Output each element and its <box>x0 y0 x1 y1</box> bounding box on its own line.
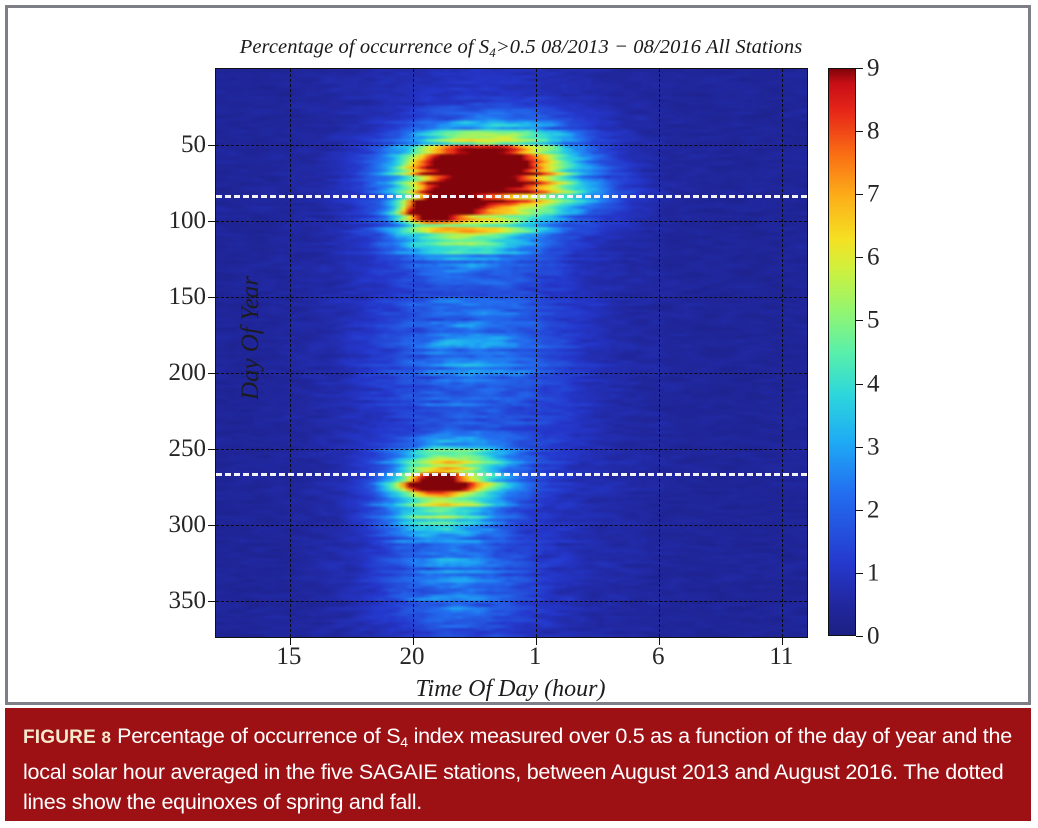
colorbar-tick-label: 7 <box>867 182 880 207</box>
heatmap-axes: Day Of Year <box>215 68 808 638</box>
colorbar-tick-label: 8 <box>867 119 880 144</box>
x-tick-label: 11 <box>769 644 793 669</box>
x-tick-label: 1 <box>529 644 542 669</box>
heatmap-image <box>216 69 807 637</box>
y-tickmark <box>208 297 216 298</box>
y-tick-label: 50 <box>181 132 206 157</box>
colorbar-tick-label: 6 <box>867 245 880 270</box>
y-tick-label: 350 <box>169 588 207 613</box>
colorbar-tickmark <box>856 573 863 574</box>
x-tick-label: 20 <box>400 644 425 669</box>
colorbar-tick-label: 9 <box>867 56 880 81</box>
caption-text-a: Percentage of occurrence of S <box>117 724 400 748</box>
y-tick-label: 300 <box>169 512 207 537</box>
x-axis-title: Time Of Day (hour) <box>215 676 806 703</box>
colorbar-tickmark <box>856 320 863 321</box>
colorbar-tickmark <box>856 384 863 385</box>
colorbar-tickmark <box>856 510 863 511</box>
colorbar-tick-label: 4 <box>867 371 880 396</box>
caption-subscript: 4 <box>400 734 408 750</box>
y-tickmark <box>208 449 216 450</box>
colorbar-tickmark <box>856 636 863 637</box>
plot-title-prefix: Percentage of occurrence of S <box>240 36 490 58</box>
colorbar-tickmark <box>856 447 863 448</box>
colorbar-tick-label: 0 <box>867 624 880 649</box>
y-tick-label: 200 <box>169 360 207 385</box>
plot-title-rest: >0.5 08/2013 − 08/2016 All Stations <box>496 36 802 58</box>
caption-label-word: FIGURE <box>23 727 96 748</box>
colorbar-tick-label: 2 <box>867 497 880 522</box>
figure-frame: Percentage of occurrence of S4>0.5 08/20… <box>5 5 1031 705</box>
y-axis-title: Day Of Year <box>237 238 265 438</box>
y-tickmark <box>208 221 216 222</box>
y-tickmark <box>208 373 216 374</box>
colorbar: 0123456789 <box>828 68 856 636</box>
y-tickmark <box>208 145 216 146</box>
colorbar-tick-label: 3 <box>867 434 880 459</box>
colorbar-tickmark <box>856 131 863 132</box>
y-axis-tick-labels: 50100150200250300350 <box>148 68 206 636</box>
figure-page: Percentage of occurrence of S4>0.5 08/20… <box>0 0 1038 828</box>
x-tick-label: 15 <box>276 644 301 669</box>
y-tickmark <box>208 601 216 602</box>
caption-text: Percentage of occurrence of S4 index mea… <box>23 724 1012 814</box>
plot-title: Percentage of occurrence of S4>0.5 08/20… <box>8 36 1034 61</box>
colorbar-tick-label: 5 <box>867 308 880 333</box>
colorbar-gradient <box>828 68 856 636</box>
colorbar-tickmark <box>856 257 863 258</box>
y-tick-label: 250 <box>169 436 207 461</box>
y-tick-label: 100 <box>169 208 207 233</box>
x-tick-label: 6 <box>652 644 665 669</box>
caption-label: FIGURE 8 <box>23 727 111 748</box>
y-tick-label: 150 <box>169 284 207 309</box>
colorbar-tickmark <box>856 68 863 69</box>
colorbar-tickmark <box>856 194 863 195</box>
x-axis-tick-labels: 15201611 <box>215 644 806 676</box>
plot-title-subscript: 4 <box>489 45 496 60</box>
y-tickmark <box>208 525 216 526</box>
figure-caption: FIGURE 8Percentage of occurrence of S4 i… <box>5 708 1031 821</box>
colorbar-tick-label: 1 <box>867 560 880 585</box>
caption-figure-number: 8 <box>101 728 111 747</box>
